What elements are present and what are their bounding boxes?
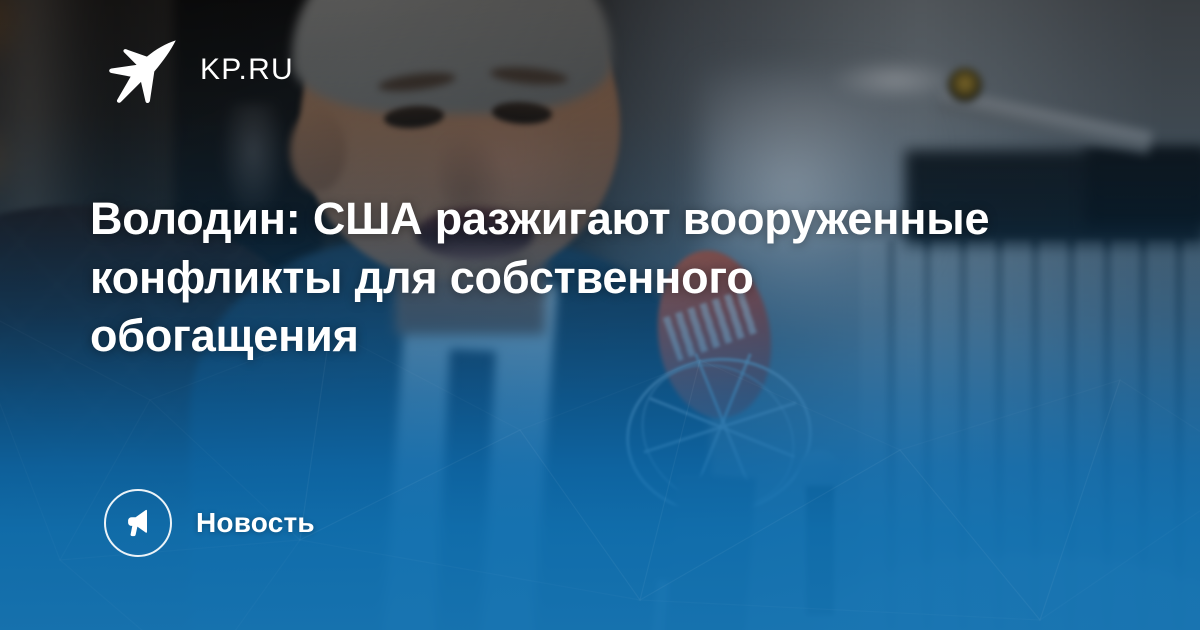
card-content: KP.RU Володин: США разжигают вооруженные…	[0, 0, 1200, 630]
megaphone-badge	[104, 489, 172, 557]
swallow-bird-icon	[104, 33, 178, 107]
megaphone-icon	[122, 507, 154, 539]
brand-lockup[interactable]: KP.RU	[104, 33, 294, 107]
brand-name: KP.RU	[200, 55, 294, 85]
status-badge[interactable]: Новость	[104, 489, 315, 557]
news-share-card: KP.RU Володин: США разжигают вооруженные…	[0, 0, 1200, 630]
page-title: Володин: США разжигают вооруженные конфл…	[90, 190, 990, 366]
status-badge-label: Новость	[196, 509, 315, 537]
